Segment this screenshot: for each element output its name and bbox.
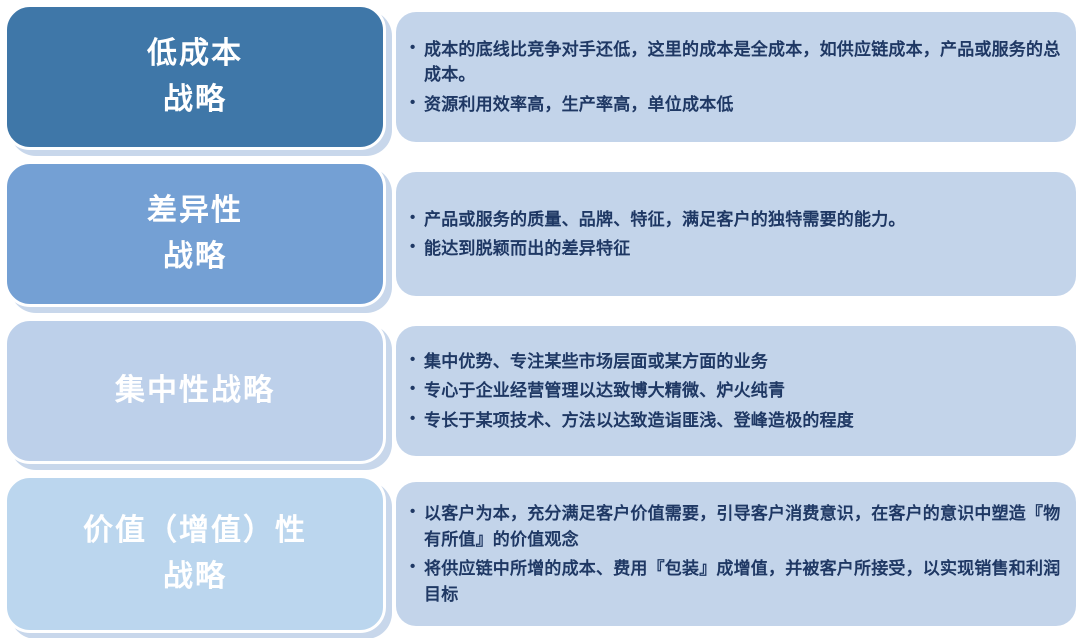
strategy-label-box-focus[interactable]: 集中性战略 (4, 318, 386, 464)
bullet-dot-icon: • (410, 556, 415, 579)
bullet-item: • 专心于企业经营管理以达致博大精微、炉火纯青 (408, 378, 1062, 404)
bullet-text: 产品或服务的质量、品牌、特征，满足客户的独特需要的能力。 (424, 210, 906, 229)
bullet-text: 成本的底线比竞争对手还低，这里的成本是全成本，如供应链成本，产品或服务的总成本。 (424, 40, 1060, 85)
strategy-label-line: 低成本 (147, 31, 243, 78)
bullet-dot-icon: • (410, 378, 415, 401)
strategy-label-box-value-added[interactable]: 价值（增值）性 战略 (4, 475, 386, 633)
bullet-dot-icon: • (410, 501, 415, 524)
bullet-item: • 专长于某项技术、方法以达致造诣匪浅、登峰造极的程度 (408, 408, 1062, 434)
strategy-label-line: 战略 (163, 554, 227, 601)
strategy-content-panel-differentiation: • 产品或服务的质量、品牌、特征，满足客户的独特需要的能力。 • 能达到脱颖而出… (396, 172, 1076, 296)
bullet-text: 以客户为本，充分满足客户价值需要，引导客户消费意识，在客户的意识中塑造『物有所值… (424, 504, 1060, 549)
bullet-text: 集中优势、专注某些市场层面或某方面的业务 (424, 352, 768, 371)
strategy-label-line: 战略 (163, 234, 227, 281)
bullet-item: • 能达到脱颖而出的差异特征 (408, 236, 1062, 262)
strategy-label-line: 战略 (163, 77, 227, 124)
bullet-dot-icon: • (410, 408, 415, 431)
strategy-diagram: 低成本 战略 • 成本的底线比竞争对手还低，这里的成本是全成本，如供应链成本，产… (0, 0, 1080, 638)
bullet-text: 专心于企业经营管理以达致博大精微、炉火纯青 (424, 381, 785, 400)
strategy-row: 低成本 战略 • 成本的底线比竞争对手还低，这里的成本是全成本，如供应链成本，产… (0, 4, 1080, 150)
bullet-dot-icon: • (410, 92, 415, 115)
strategy-content-panel-low-cost: • 成本的底线比竞争对手还低，这里的成本是全成本，如供应链成本，产品或服务的总成… (396, 12, 1076, 142)
strategy-row: 差异性 战略 • 产品或服务的质量、品牌、特征，满足客户的独特需要的能力。 • … (0, 161, 1080, 307)
strategy-label-box-low-cost[interactable]: 低成本 战略 (4, 4, 386, 150)
bullet-dot-icon: • (410, 349, 415, 372)
strategy-content-panel-focus: • 集中优势、专注某些市场层面或某方面的业务 • 专心于企业经营管理以达致博大精… (396, 326, 1076, 456)
strategy-label-line: 价值（增值）性 (83, 508, 307, 555)
bullet-text: 资源利用效率高，生产率高，单位成本低 (424, 95, 734, 114)
bullet-dot-icon: • (410, 37, 415, 60)
bullet-item: • 资源利用效率高，生产率高，单位成本低 (408, 92, 1062, 118)
strategy-row: 集中性战略 • 集中优势、专注某些市场层面或某方面的业务 • 专心于企业经营管理… (0, 318, 1080, 464)
strategy-label-line: 集中性战略 (115, 368, 275, 415)
strategy-content-panel-value-added: • 以客户为本，充分满足客户价值需要，引导客户消费意识，在客户的意识中塑造『物有… (396, 482, 1076, 626)
bullet-text: 专长于某项技术、方法以达致造诣匪浅、登峰造极的程度 (424, 411, 854, 430)
strategy-label-box-differentiation[interactable]: 差异性 战略 (4, 161, 386, 307)
bullet-dot-icon: • (410, 236, 415, 259)
strategy-row: 价值（增值）性 战略 • 以客户为本，充分满足客户价值需要，引导客户消费意识，在… (0, 475, 1080, 633)
bullet-item: • 将供应链中所增的成本、费用『包装』成增值，并被客户所接受，以实现销售和利润目… (408, 556, 1062, 607)
bullet-dot-icon: • (410, 207, 415, 230)
bullet-text: 能达到脱颖而出的差异特征 (424, 239, 630, 258)
strategy-label-line: 差异性 (147, 188, 243, 235)
bullet-item: • 以客户为本，充分满足客户价值需要，引导客户消费意识，在客户的意识中塑造『物有… (408, 501, 1062, 552)
bullet-item: • 成本的底线比竞争对手还低，这里的成本是全成本，如供应链成本，产品或服务的总成… (408, 37, 1062, 88)
bullet-item: • 集中优势、专注某些市场层面或某方面的业务 (408, 349, 1062, 375)
bullet-text: 将供应链中所增的成本、费用『包装』成增值，并被客户所接受，以实现销售和利润目标 (424, 559, 1060, 604)
bullet-item: • 产品或服务的质量、品牌、特征，满足客户的独特需要的能力。 (408, 207, 1062, 233)
